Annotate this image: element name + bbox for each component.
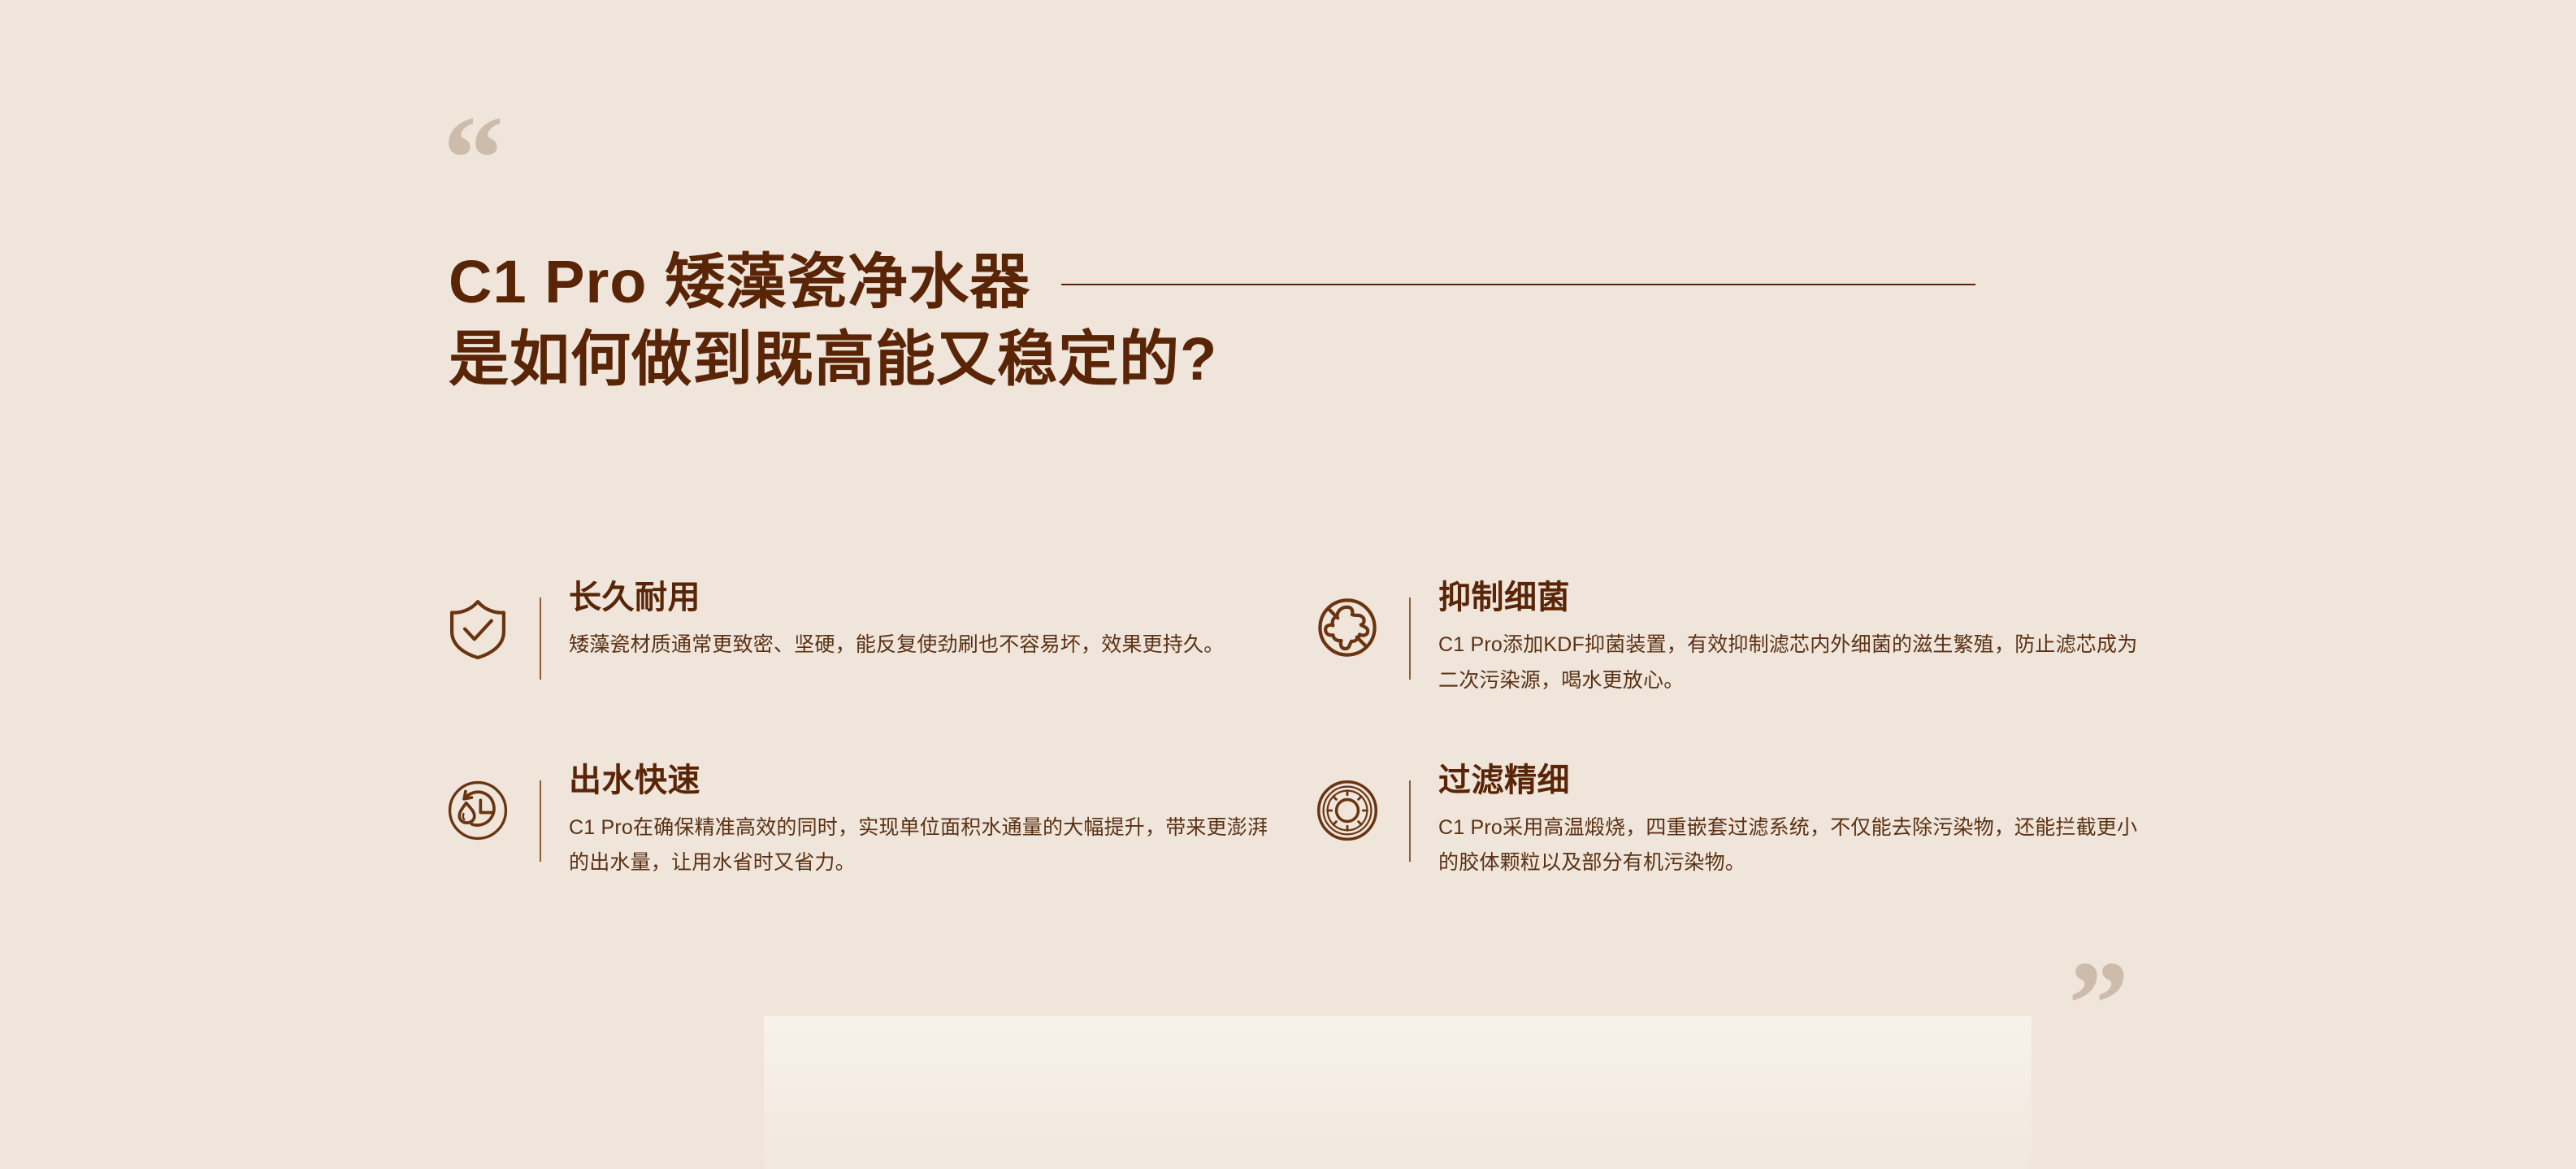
water-drop-clock-icon: [439, 771, 517, 850]
shield-check-icon: [439, 589, 517, 667]
title-block: C1 Pro 矮藻瓷净水器 是如何做到既高能又稳定的?: [449, 244, 2236, 398]
feature-text: 过滤精细 C1 Pro采用高温煅烧，四重嵌套过滤系统，不仅能去除污染物，还能拦截…: [1438, 744, 2178, 882]
feature-text: 出水快速 C1 Pro在确保精准高效的同时，实现单位面积水通量的大幅提升，带来更…: [569, 744, 1308, 882]
feature-title: 出水快速: [569, 760, 1308, 801]
title-divider-rule: [1061, 284, 1975, 285]
poster-page: “ ” C1 Pro 矮藻瓷净水器 是如何做到既高能又稳定的? 长久耐用 矮藻瓷…: [0, 0, 2576, 1169]
feature-description: C1 Pro在确保精准高效的同时，实现单位面积水通量的大幅提升，带来更澎湃的出水…: [569, 810, 1284, 882]
page-title-line-2: 是如何做到既高能又稳定的?: [449, 321, 2236, 398]
feature-description: C1 Pro添加KDF抑菌装置，有效抑制滤芯内外细菌的滋生繁殖，防止滤芯成为二次…: [1438, 628, 2153, 699]
feature-title: 长久耐用: [569, 577, 1308, 618]
title-first-row: C1 Pro 矮藻瓷净水器: [449, 244, 2236, 321]
feature-description: 矮藻瓷材质通常更致密、坚硬，能反复使劲刷也不容易坏，效果更持久。: [569, 628, 1284, 663]
page-title-line-1: C1 Pro 矮藻瓷净水器: [449, 244, 1030, 321]
feature-item-antibacterial: 抑制细菌 C1 Pro添加KDF抑菌装置，有效抑制滤芯内外细菌的滋生繁殖，防止滤…: [1308, 561, 2178, 699]
feature-divider: [1409, 780, 1411, 863]
feature-text: 长久耐用 矮藻瓷材质通常更致密、坚硬，能反复使劲刷也不容易坏，效果更持久。: [569, 561, 1308, 663]
feature-item-fine-filtration: 过滤精细 C1 Pro采用高温煅烧，四重嵌套过滤系统，不仅能去除污染物，还能拦截…: [1308, 744, 2178, 882]
feature-title: 抑制细菌: [1438, 577, 2178, 618]
feature-item-fast-flow: 出水快速 C1 Pro在确保精准高效的同时，实现单位面积水通量的大幅提升，带来更…: [439, 744, 1308, 882]
feature-divider: [1409, 598, 1411, 680]
opening-quote-icon: “: [443, 98, 504, 219]
feature-text: 抑制细菌 C1 Pro添加KDF抑菌装置，有效抑制滤芯内外细菌的滋生繁殖，防止滤…: [1438, 561, 2178, 699]
feature-title: 过滤精细: [1438, 760, 2178, 801]
no-bacteria-icon: [1308, 589, 1386, 667]
background-highlight-panel: [764, 1016, 2032, 1169]
feature-divider: [540, 780, 541, 863]
closing-quote-icon: ”: [2068, 943, 2129, 1065]
feature-description: C1 Pro采用高温煅烧，四重嵌套过滤系统，不仅能去除污染物，还能拦截更小的胶体…: [1438, 810, 2153, 882]
feature-item-durability: 长久耐用 矮藻瓷材质通常更致密、坚硬，能反复使劲刷也不容易坏，效果更持久。: [439, 561, 1308, 699]
feature-divider: [540, 598, 541, 680]
filter-rings-icon: [1308, 771, 1386, 850]
feature-grid: 长久耐用 矮藻瓷材质通常更致密、坚硬，能反复使劲刷也不容易坏，效果更持久。 抑制…: [439, 561, 2178, 881]
